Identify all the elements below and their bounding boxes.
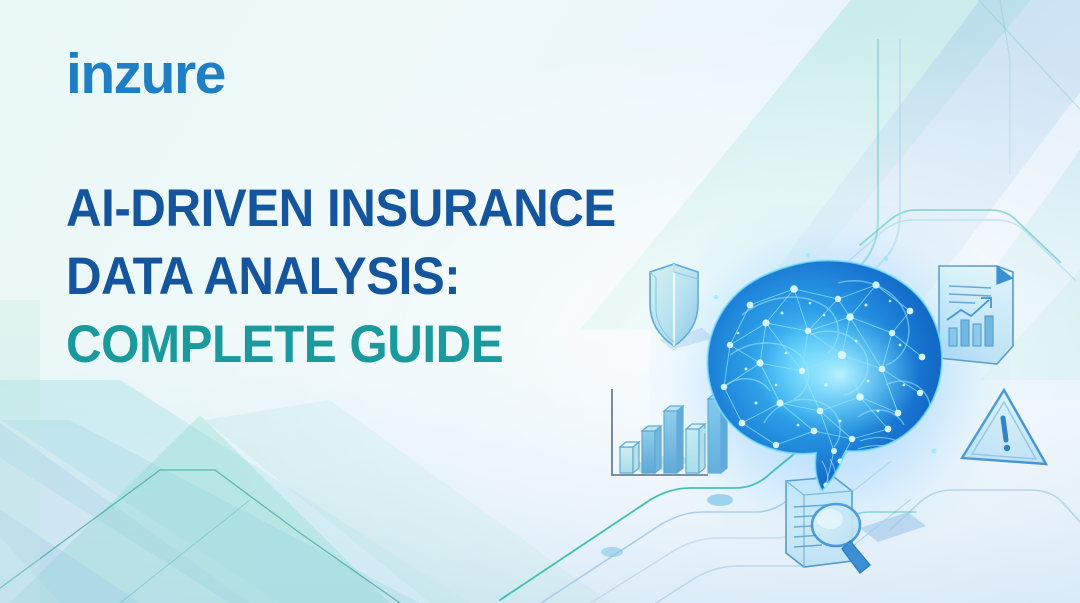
spacer bbox=[66, 103, 786, 175]
headline-line-3: COMPLETE GUIDE bbox=[66, 311, 736, 379]
headline-block: inzure AI-DRIVEN INSURANCE DATA ANALYSIS… bbox=[66, 46, 786, 379]
brand-logo[interactable]: inzure bbox=[66, 46, 786, 103]
marketing-banner: inzure AI-DRIVEN INSURANCE DATA ANALYSIS… bbox=[0, 0, 1080, 603]
headline-line-1: AI-DRIVEN INSURANCE bbox=[66, 175, 736, 243]
headline-line-2: DATA ANALYSIS: bbox=[66, 243, 736, 311]
warning-triangle-icon bbox=[962, 390, 1046, 464]
page-title: AI-DRIVEN INSURANCE DATA ANALYSIS: COMPL… bbox=[66, 175, 786, 379]
